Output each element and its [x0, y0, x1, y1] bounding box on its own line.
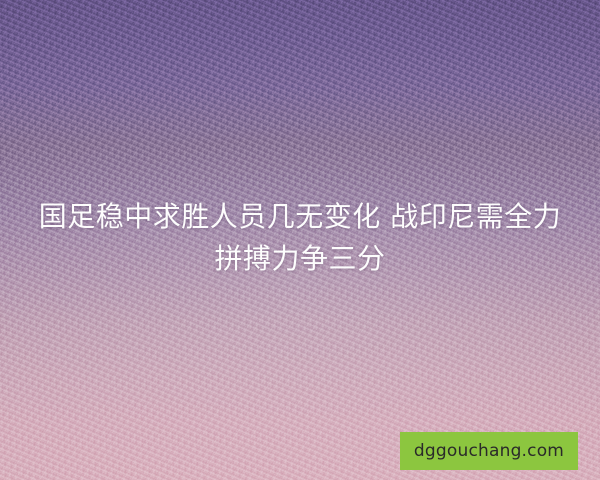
watermark-badge: dggouchang.com: [400, 432, 578, 470]
headline-text: 国足稳中求胜人员几无变化 战印尼需全力拼搏力争三分: [0, 196, 600, 280]
watermark-label: dggouchang.com: [414, 443, 564, 460]
headline-image-card: 国足稳中求胜人员几无变化 战印尼需全力拼搏力争三分 dggouchang.com: [0, 0, 600, 480]
